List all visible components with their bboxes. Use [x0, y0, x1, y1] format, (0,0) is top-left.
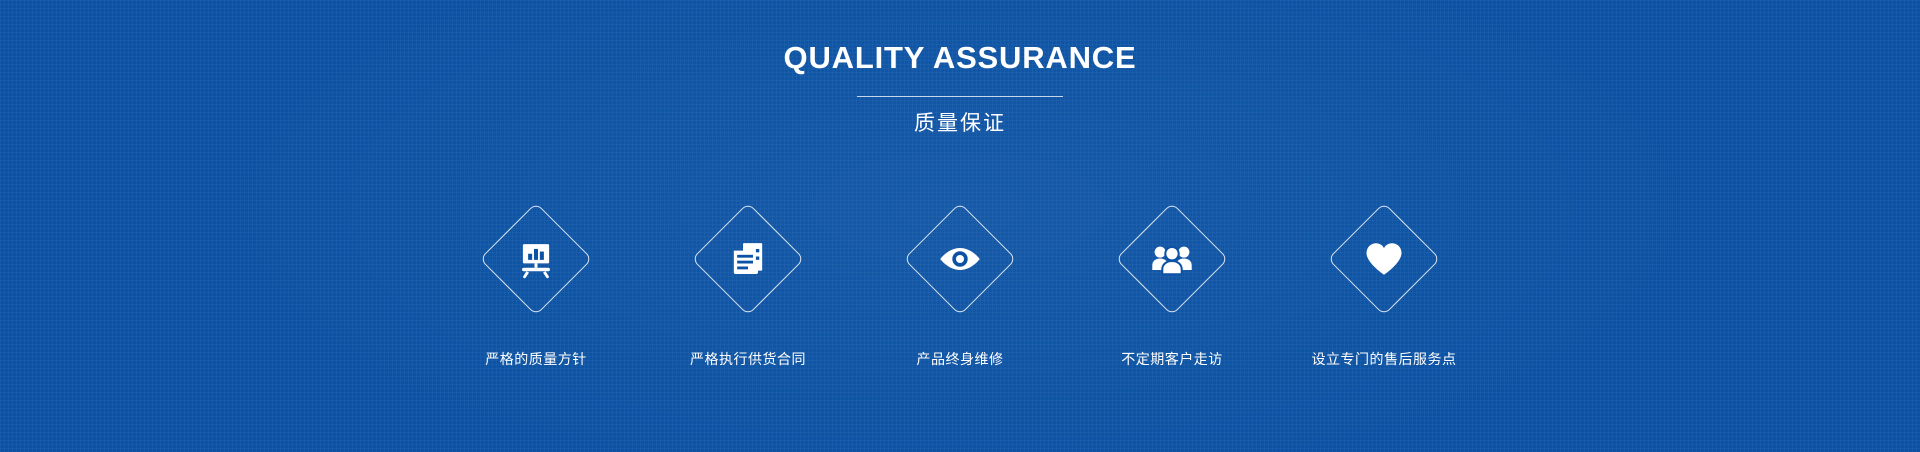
users-group-icon [1149, 236, 1195, 282]
feature-list: 严格的质量方针 [0, 200, 1920, 370]
title-divider [857, 96, 1063, 97]
feature-item-customer-visits[interactable]: 不定期客户走访 [1066, 200, 1278, 370]
feature-label: 严格执行供货合同 [690, 350, 806, 370]
documents-icon [725, 236, 771, 282]
feature-icon-frame [1325, 200, 1443, 318]
feature-label: 设立专门的售后服务点 [1312, 350, 1457, 370]
banner-content: QUALITY ASSURANCE 质量保证 [0, 0, 1920, 452]
feature-item-supply-contract[interactable]: 严格执行供货合同 [642, 200, 854, 370]
feature-item-service-points[interactable]: 设立专门的售后服务点 [1278, 200, 1490, 370]
heart-icon [1361, 236, 1407, 282]
feature-icon-frame [477, 200, 595, 318]
presentation-chart-icon [513, 236, 559, 282]
page-title-cn: 质量保证 [0, 109, 1920, 137]
feature-label: 严格的质量方针 [485, 350, 587, 370]
quality-assurance-banner: QUALITY ASSURANCE 质量保证 [0, 0, 1920, 452]
feature-item-lifetime-repair[interactable]: 产品终身维修 [854, 200, 1066, 370]
eye-icon [937, 236, 983, 282]
feature-label: 不定期客户走访 [1121, 350, 1223, 370]
heading-block: QUALITY ASSURANCE 质量保证 [0, 40, 1920, 137]
page-title-en: QUALITY ASSURANCE [0, 40, 1920, 76]
feature-icon-frame [901, 200, 1019, 318]
feature-label: 产品终身维修 [917, 350, 1004, 370]
feature-icon-frame [689, 200, 807, 318]
feature-item-quality-policy[interactable]: 严格的质量方针 [430, 200, 642, 370]
feature-icon-frame [1113, 200, 1231, 318]
